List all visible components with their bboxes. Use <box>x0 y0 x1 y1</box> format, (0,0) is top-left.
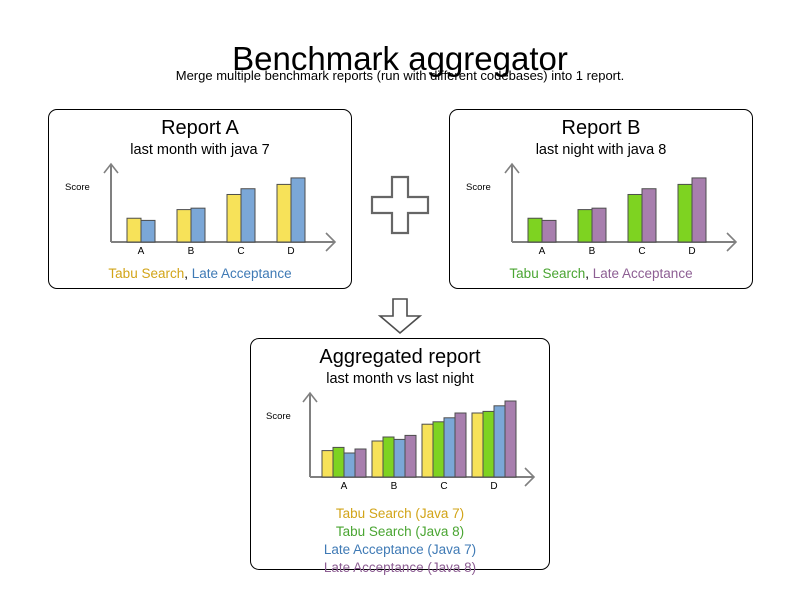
bar-A-2 <box>542 220 556 242</box>
bar-C-2 <box>642 189 656 242</box>
x-tick-label: B <box>188 246 195 257</box>
legend-item: Tabu Search (Java 7) <box>251 505 549 523</box>
aggregated-chart: Score ABCD <box>260 389 540 501</box>
down-arrow-icon <box>377 297 423 340</box>
legend-item: Tabu Search <box>108 266 184 281</box>
report-b-card: Report B last night with java 8 Score AB… <box>449 109 753 289</box>
bar-D-2 <box>692 178 706 242</box>
bar-A-4 <box>355 449 366 477</box>
plus-icon <box>369 174 431 241</box>
bar-B-3 <box>394 439 405 477</box>
page-subtitle: Merge multiple benchmark reports (run wi… <box>0 68 800 83</box>
bar-D-1 <box>472 413 483 477</box>
report-b-chart: Score ABCD <box>460 160 742 265</box>
report-a-score-label: Score <box>65 182 90 193</box>
report-b-title: Report B <box>450 115 752 141</box>
legend-item: Late Acceptance (Java 8) <box>251 559 549 577</box>
bar-B-4 <box>405 435 416 477</box>
x-tick-label: A <box>138 246 145 257</box>
bar-D-2 <box>291 178 305 242</box>
bar-B-2 <box>191 208 205 242</box>
bar-C-4 <box>455 413 466 477</box>
bar-A-1 <box>322 451 333 477</box>
bar-D-1 <box>277 184 291 242</box>
bar-A-1 <box>528 218 542 242</box>
bar-D-4 <box>505 401 516 477</box>
aggregated-score-label: Score <box>266 411 291 422</box>
aggregated-report-title: Aggregated report <box>251 344 549 370</box>
bar-C-3 <box>444 418 455 477</box>
bar-A-1 <box>127 218 141 242</box>
bar-C-2 <box>433 422 444 477</box>
bar-A-3 <box>344 453 355 477</box>
bar-D-1 <box>678 184 692 242</box>
aggregated-report-subtitle: last month vs last night <box>251 370 549 389</box>
x-tick-label: C <box>638 246 645 257</box>
legend-item: Tabu Search <box>509 266 585 281</box>
bar-D-3 <box>494 406 505 477</box>
bar-B-1 <box>578 210 592 242</box>
x-tick-label: A <box>341 481 348 492</box>
bar-B-2 <box>592 208 606 242</box>
aggregated-legend: Tabu Search (Java 7)Tabu Search (Java 8)… <box>251 505 549 577</box>
legend-separator: , <box>184 266 192 281</box>
x-tick-label: D <box>490 481 497 492</box>
bar-C-2 <box>241 189 255 242</box>
bar-A-2 <box>333 447 344 477</box>
x-tick-label: B <box>391 481 398 492</box>
legend-item: Late Acceptance (Java 7) <box>251 541 549 559</box>
x-tick-label: D <box>287 246 294 257</box>
report-b-score-label: Score <box>466 182 491 193</box>
aggregated-report-card: Aggregated report last month vs last nig… <box>250 338 550 570</box>
legend-item: Late Acceptance <box>192 266 292 281</box>
legend-item: Tabu Search (Java 8) <box>251 523 549 541</box>
x-tick-label: C <box>440 481 447 492</box>
bar-C-1 <box>422 424 433 477</box>
bar-B-2 <box>383 437 394 477</box>
x-tick-label: B <box>589 246 596 257</box>
x-tick-label: D <box>688 246 695 257</box>
bar-C-1 <box>227 194 241 242</box>
bar-A-2 <box>141 220 155 242</box>
bar-B-1 <box>177 210 191 242</box>
report-a-subtitle: last month with java 7 <box>49 141 351 160</box>
report-a-chart: Score ABCD <box>59 160 341 265</box>
legend-separator: , <box>585 266 593 281</box>
report-b-subtitle: last night with java 8 <box>450 141 752 160</box>
report-a-card: Report A last month with java 7 Score AB… <box>48 109 352 289</box>
x-tick-label: A <box>539 246 546 257</box>
bar-B-1 <box>372 441 383 477</box>
report-a-legend: Tabu Search, Late Acceptance <box>49 265 351 283</box>
report-b-legend: Tabu Search, Late Acceptance <box>450 265 752 283</box>
report-a-title: Report A <box>49 115 351 141</box>
bar-D-2 <box>483 411 494 477</box>
legend-item: Late Acceptance <box>593 266 693 281</box>
x-tick-label: C <box>237 246 244 257</box>
bar-C-1 <box>628 194 642 242</box>
